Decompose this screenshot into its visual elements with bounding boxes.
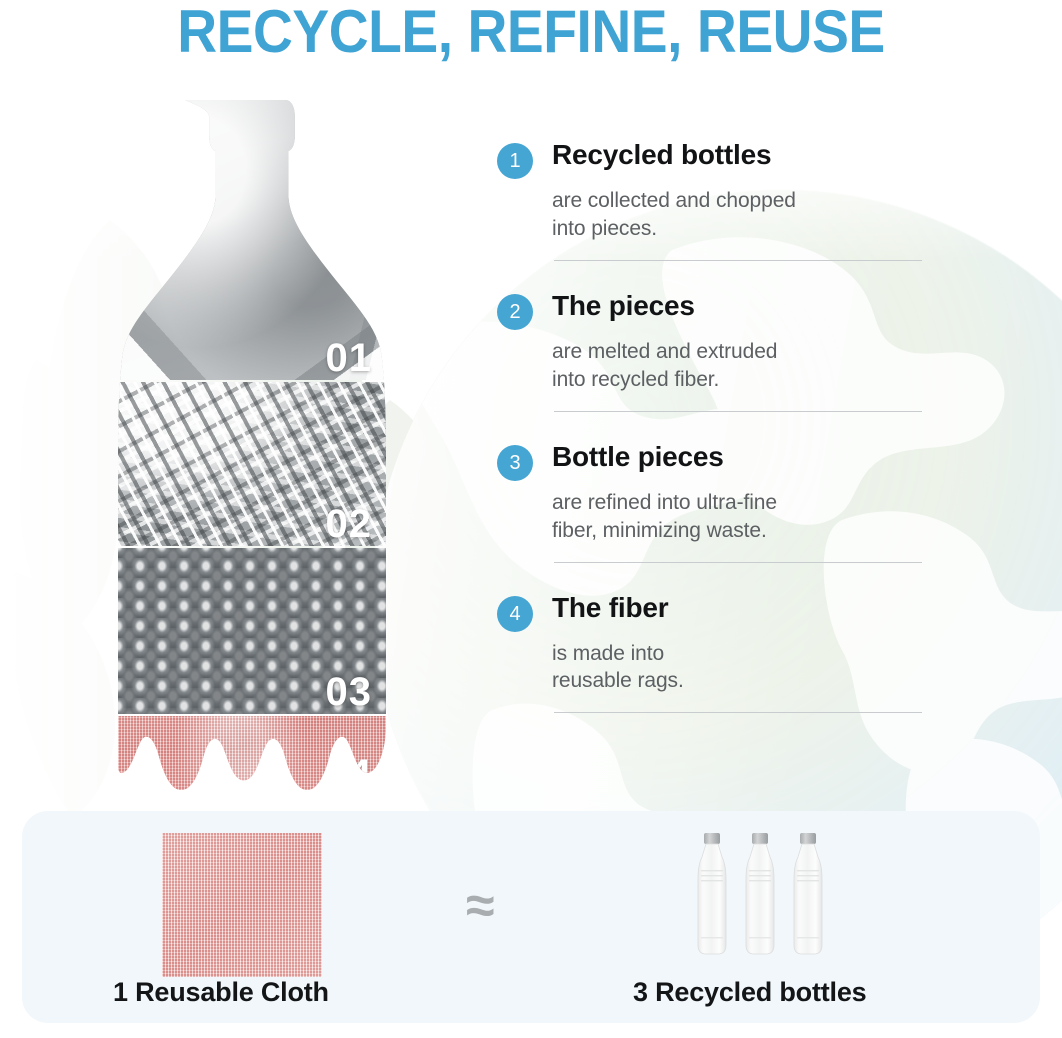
step-item-3: 3 Bottle pieces are refined into ultra-f… (497, 442, 937, 563)
bottle-segment-03: 03 (118, 548, 386, 714)
step-item-4: 4 The fiber is made into reusable rags. (497, 593, 937, 714)
spacer (497, 563, 937, 593)
step-title-2: The pieces (552, 291, 695, 322)
step-badge-3: 3 (497, 445, 533, 481)
step-body-1: are collected and chopped into pieces. (552, 187, 937, 243)
cloth-swatch-image (162, 833, 322, 977)
segment-number-02: 02 (326, 504, 373, 544)
step-body-2: are melted and extruded into recycled fi… (552, 338, 937, 394)
segment-number-03: 03 (326, 672, 373, 712)
step-item-2: 2 The pieces are melted and extruded int… (497, 291, 937, 412)
bottle-segment-02: 02 (118, 382, 386, 546)
approximately-equal-icon: ≈ (466, 880, 495, 932)
spacer (497, 261, 937, 291)
bottle-segment-04: 04 (118, 716, 386, 790)
step-body-4: is made into reusable rags. (552, 640, 937, 696)
step-title-4: The fiber (552, 593, 668, 624)
segment-number-04: 04 (326, 754, 373, 790)
steps-list: 1 Recycled bottles are collected and cho… (497, 140, 937, 713)
bottle-segment-01: 01 (118, 100, 386, 380)
step-title-3: Bottle pieces (552, 442, 724, 473)
step-item-1: 1 Recycled bottles are collected and cho… (497, 140, 937, 261)
bottles-label: 3 Recycled bottles (633, 977, 867, 1008)
spacer (497, 412, 937, 442)
cloth-label: 1 Reusable Cloth (113, 977, 329, 1008)
bottle-diagram: 01 02 03 04 (118, 100, 386, 790)
step-badge-1: 1 (497, 143, 533, 179)
step-body-3: are refined into ultra-fine fiber, minim… (552, 489, 937, 545)
three-bottles-image (690, 827, 840, 962)
step-title-1: Recycled bottles (552, 140, 771, 171)
page-title: RECYCLE, REFINE, REUSE (42, 2, 1019, 62)
step-divider-1 (554, 260, 922, 261)
step-divider-3 (554, 562, 922, 563)
step-divider-4 (554, 712, 922, 713)
step-divider-2 (554, 411, 922, 412)
segment-number-01: 01 (326, 338, 373, 378)
step-badge-2: 2 (497, 294, 533, 330)
step-badge-4: 4 (497, 596, 533, 632)
infographic-page: RECYCLE, REFINE, REUSE 01 02 03 (0, 0, 1062, 1038)
pink-microfiber-texture (118, 716, 386, 790)
